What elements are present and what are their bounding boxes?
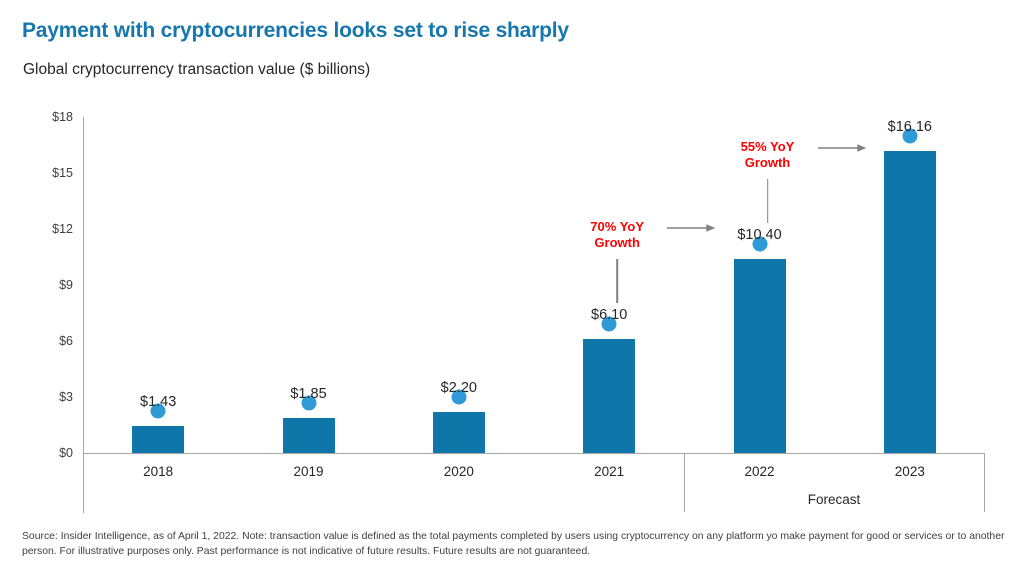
growth-annotation-2022: 70% YoYGrowth xyxy=(572,219,662,252)
bar[interactable] xyxy=(132,426,184,453)
bar-group[interactable]: $6.10 xyxy=(583,117,635,453)
x-axis-label-2020: 2020 xyxy=(399,464,519,479)
bar-value-label: $10.40 xyxy=(737,227,781,243)
annotation-arrow xyxy=(667,223,715,233)
bar-value-label: $1.43 xyxy=(140,394,176,410)
forecast-region-label: Forecast xyxy=(734,492,934,507)
bar-value-label: $6.10 xyxy=(591,307,627,323)
bar-value-label: $1.85 xyxy=(290,386,326,402)
growth-annotation-2023: 55% YoYGrowth xyxy=(723,139,813,172)
x-axis-label-2022: 2022 xyxy=(700,464,820,479)
annotation-connector-line xyxy=(767,179,769,223)
y-axis-tick-label: $3 xyxy=(13,390,73,404)
source-note: Source: Insider Intelligence, as of Apri… xyxy=(22,529,1007,559)
annotation-connector-line xyxy=(616,259,618,303)
forecast-right-edge-line xyxy=(984,453,985,512)
bar-group[interactable]: $16.16 xyxy=(884,117,936,453)
bar-value-label: $16.16 xyxy=(888,119,932,135)
bar-group[interactable]: $1.43 xyxy=(132,117,184,453)
x-axis-label-2018: 2018 xyxy=(98,464,218,479)
x-axis-label-2019: 2019 xyxy=(249,464,369,479)
y-axis-tick-label: $12 xyxy=(13,222,73,236)
page-title: Payment with cryptocurrencies looks set … xyxy=(22,19,569,43)
growth-annotation-line2: Growth xyxy=(723,155,813,171)
bar[interactable] xyxy=(734,259,786,453)
bar[interactable] xyxy=(283,418,335,453)
forecast-divider-line xyxy=(684,453,685,512)
y-axis-tick-label: $6 xyxy=(13,334,73,348)
x-axis-label-2023: 2023 xyxy=(850,464,970,479)
bar-value-label: $2.20 xyxy=(441,380,477,396)
x-axis-line xyxy=(83,453,985,454)
growth-annotation-line1: 55% YoY xyxy=(723,139,813,155)
bar-group[interactable]: $1.85 xyxy=(283,117,335,453)
annotation-arrow xyxy=(818,143,866,153)
growth-annotation-line2: Growth xyxy=(572,235,662,251)
bar[interactable] xyxy=(583,339,635,453)
bar-group[interactable]: $2.20 xyxy=(433,117,485,453)
y-axis-tick-label: $0 xyxy=(13,446,73,460)
x-axis-label-2021: 2021 xyxy=(549,464,669,479)
bar[interactable] xyxy=(884,151,936,453)
plot-area: $1.43$1.85$2.20$6.10$10.40$16.16 xyxy=(83,117,985,453)
y-axis-ticks: $0$3$6$9$12$15$18 xyxy=(11,0,73,576)
chart-subtitle: Global cryptocurrency transaction value … xyxy=(23,61,370,79)
y-axis-tick-label: $9 xyxy=(13,278,73,292)
y-axis-tick-label: $18 xyxy=(13,110,73,124)
y-axis-tick-label: $15 xyxy=(13,166,73,180)
bar[interactable] xyxy=(433,412,485,453)
growth-annotation-line1: 70% YoY xyxy=(572,219,662,235)
